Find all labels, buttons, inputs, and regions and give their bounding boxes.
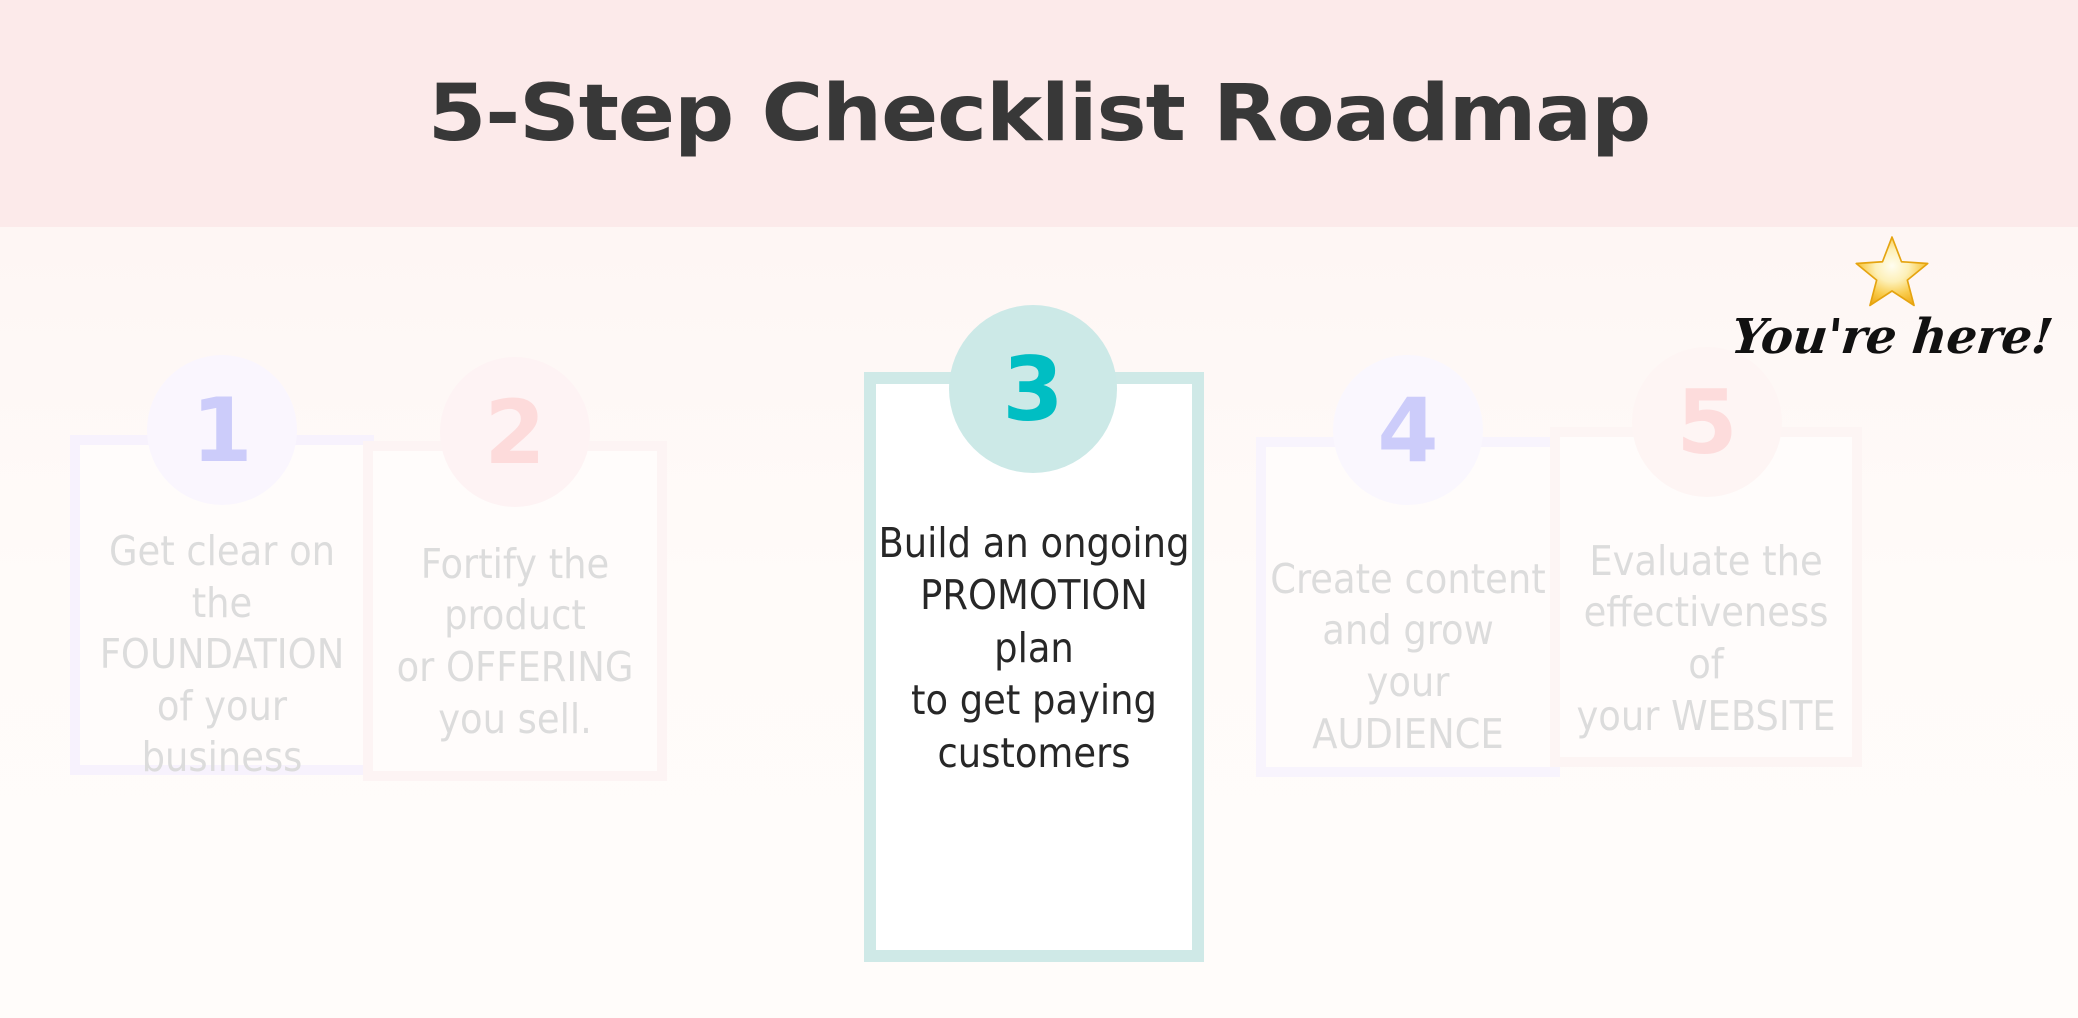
page-title: 5-Step Checklist Roadmap: [428, 69, 1651, 159]
you-are-here-label: You're here!: [1689, 309, 2078, 365]
step-3-number-badge: 3: [949, 305, 1117, 473]
roadmap-step-3-active[interactable]: You're here! Build an ongoing PROMOTION …: [856, 227, 1216, 987]
roadmap-board: Get clear on the FOUNDATION of your busi…: [0, 227, 2078, 1018]
step-2-label: Fortify the product or OFFERING you sell…: [397, 477, 634, 746]
roadmap-step-5[interactable]: Evaluate the effectiveness of your WEBSI…: [1542, 319, 1872, 769]
step-3-label: Build an ongoing PROMOTION plan to get p…: [876, 517, 1192, 817]
you-are-here-marker: You're here!: [1692, 227, 2078, 377]
step-4-number-badge: 4: [1333, 355, 1483, 505]
roadmap-step-1[interactable]: Get clear on the FOUNDATION of your busi…: [62, 325, 382, 775]
roadmap-step-4[interactable]: Create content and grow your AUDIENCE 4: [1248, 325, 1568, 775]
roadmap-step-2[interactable]: Fortify the product or OFFERING you sell…: [355, 325, 675, 780]
step-2-number-badge: 2: [440, 357, 590, 507]
header-banner: 5-Step Checklist Roadmap: [0, 0, 2078, 227]
star-icon: [1854, 235, 1930, 309]
step-1-number-badge: 1: [147, 355, 297, 505]
